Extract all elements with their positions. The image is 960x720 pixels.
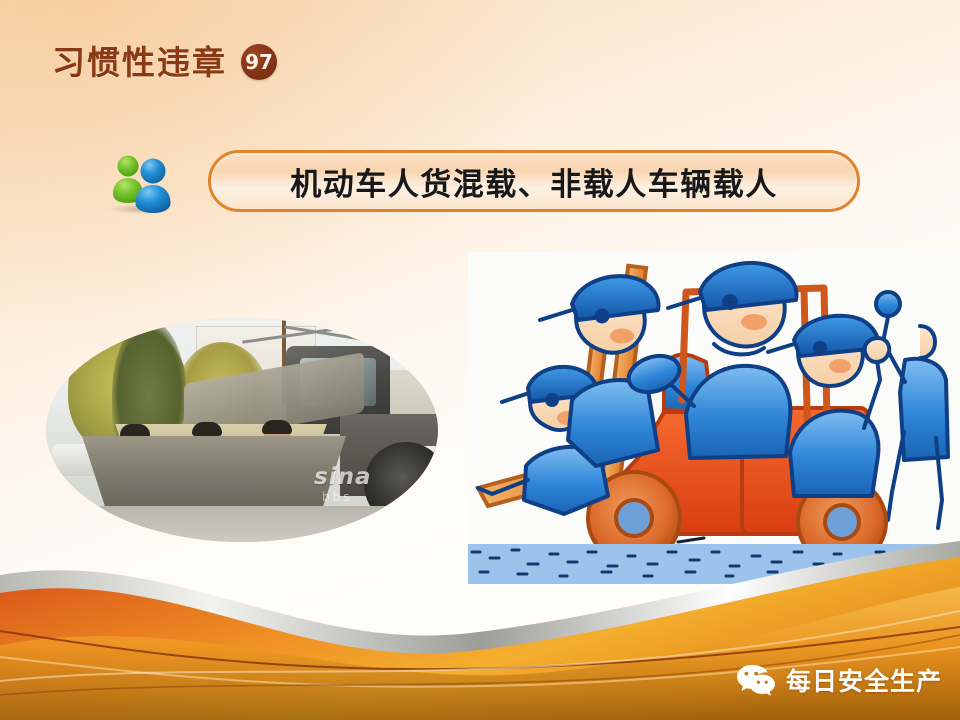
wechat-watermark: 每日安全生产 xyxy=(736,662,942,698)
forklift-cartoon xyxy=(468,252,960,584)
topic-banner: 机动车人货混载、非载人车辆载人 xyxy=(208,150,860,212)
forklift-cartoon-drawing xyxy=(468,252,960,584)
sina-watermark: sina xyxy=(314,464,371,490)
photo-road xyxy=(46,506,438,542)
two-people-icon xyxy=(104,152,180,214)
page-title: 习惯性违章 xyxy=(52,46,227,79)
page-number-badge: 97 xyxy=(241,44,277,80)
cartoon-ground xyxy=(468,544,960,584)
wechat-watermark-text: 每日安全生产 xyxy=(786,662,942,698)
slide-header: 习惯性违章 97 xyxy=(52,44,277,80)
topic-banner-text: 机动车人货混载、非载人车辆载人 xyxy=(290,159,778,204)
sina-watermark-sub: bbs xyxy=(322,490,353,504)
wechat-icon xyxy=(736,663,776,697)
loader-bucket-photo: sina bbs xyxy=(46,318,438,542)
slide-canvas: 习惯性违章 97 xyxy=(0,0,960,720)
